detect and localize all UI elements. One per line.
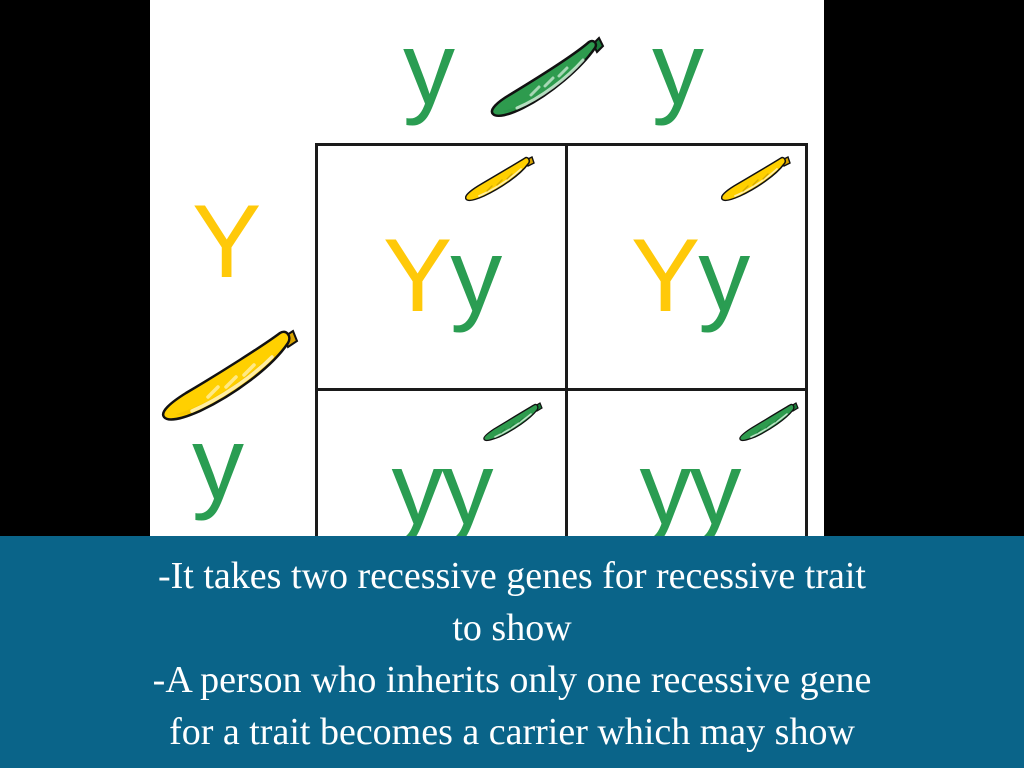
punnett-cell-genotype: yy: [568, 437, 811, 536]
punnett-left-label-1: Y: [192, 190, 259, 294]
yellow-pea-pod-icon: [721, 155, 793, 207]
punnett-cell-genotype: Yy: [568, 224, 811, 328]
allele-recessive: y: [450, 218, 500, 334]
punnett-top-label-1: y: [403, 17, 453, 121]
caption-line-4: for a trait becomes a carrier which may …: [0, 706, 1024, 758]
green-pea-pod-icon: [489, 34, 609, 134]
slide-content-panel: y y Y y Yy Yy: [150, 0, 824, 536]
green-pea-pod-icon: [483, 402, 545, 446]
punnett-cell-genotype: Yy: [318, 224, 565, 328]
caption-line-3: -A person who inherits only one recessiv…: [0, 654, 1024, 706]
allele-dominant: y: [640, 431, 690, 536]
punnett-cell-genotype: yy: [318, 437, 565, 536]
green-pea-pod-icon: [739, 402, 801, 446]
caption-band: -It takes two recessive genes for recess…: [0, 536, 1024, 768]
allele-recessive: y: [442, 431, 492, 536]
allele-recessive: y: [698, 218, 748, 334]
punnett-top-label-2: y: [652, 17, 702, 121]
caption-line-2: to show: [0, 602, 1024, 654]
caption-line-1: -It takes two recessive genes for recess…: [0, 550, 1024, 602]
yellow-pea-pod-icon: [465, 155, 537, 207]
allele-dominant: y: [392, 431, 442, 536]
allele-recessive: y: [690, 431, 740, 536]
allele-dominant: Y: [631, 218, 698, 334]
punnett-left-label-2: y: [192, 412, 242, 516]
allele-dominant: Y: [383, 218, 450, 334]
